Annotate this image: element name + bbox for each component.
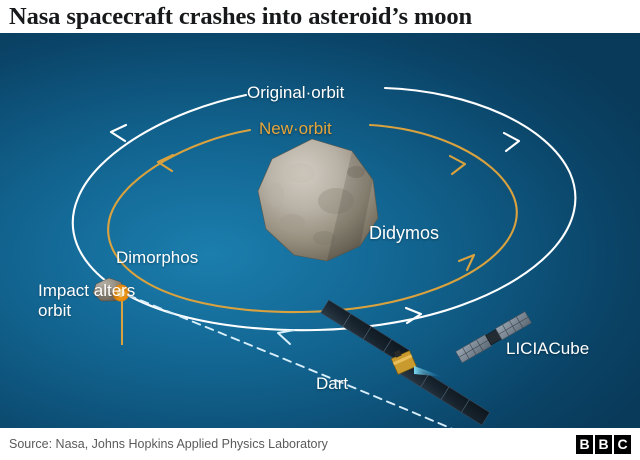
- page-title: Nasa spacecraft crashes into asteroid’s …: [0, 3, 472, 31]
- diagram-canvas: Original·orbit New·orbit Didymos Dimorph…: [0, 33, 640, 428]
- bbc-logo-letter-2: B: [595, 435, 612, 454]
- title-bar: Nasa spacecraft crashes into asteroid’s …: [0, 0, 640, 33]
- label-dimorphos: Dimorphos: [116, 248, 198, 268]
- label-impact-alters-orbit: Impact alters orbit: [38, 281, 168, 321]
- label-liciacube: LICIACube: [506, 339, 589, 359]
- source-credit: Source: Nasa, Johns Hopkins Applied Phys…: [0, 437, 328, 451]
- bbc-logo-letter-3: C: [614, 435, 631, 454]
- label-original-orbit: Original·orbit: [247, 83, 344, 103]
- footer-bar: Source: Nasa, Johns Hopkins Applied Phys…: [0, 428, 640, 460]
- label-new-orbit: New·orbit: [259, 119, 332, 139]
- didymos-asteroid: [258, 139, 378, 261]
- label-didymos: Didymos: [369, 223, 439, 244]
- dart-spacecraft: [321, 300, 490, 425]
- bbc-logo: B B C: [576, 435, 640, 454]
- bbc-logo-letter-1: B: [576, 435, 593, 454]
- infographic-page: Nasa spacecraft crashes into asteroid’s …: [0, 0, 640, 460]
- label-dart: Dart: [316, 374, 348, 394]
